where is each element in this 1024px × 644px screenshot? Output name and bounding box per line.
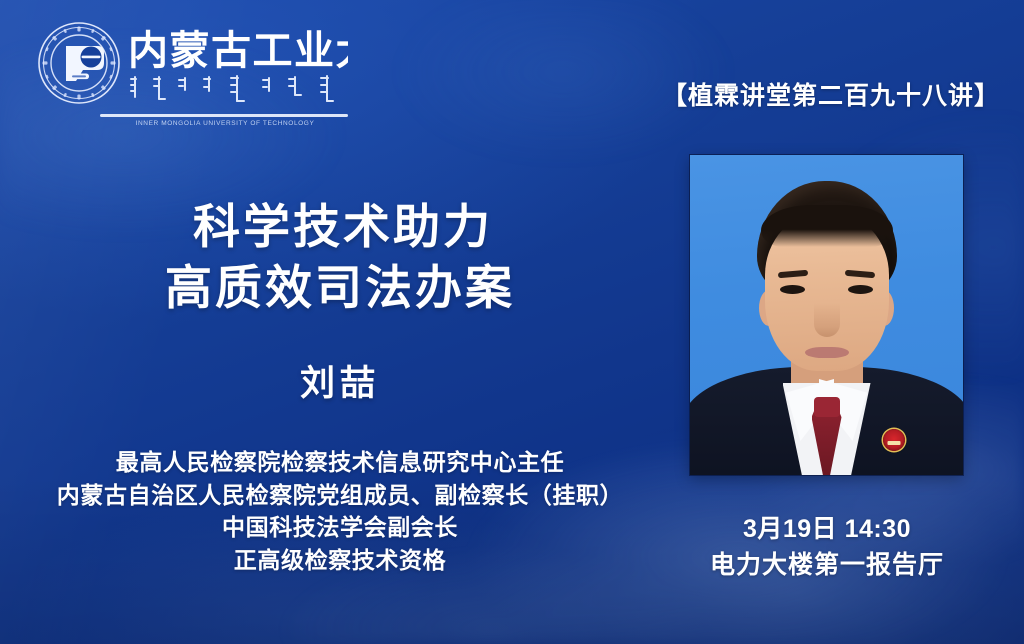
lecture-series-label: 【植霖讲堂第二百九十八讲】 [662, 76, 1000, 112]
university-seal-icon [36, 20, 122, 106]
title-line-2: 高质效司法办案 [20, 257, 660, 318]
poster-title: 科学技术助力 高质效司法办案 [20, 196, 660, 318]
credential-line: 正高级检察技术资格 [8, 544, 672, 577]
portrait-mouth [805, 347, 849, 358]
lecture-poster: 内蒙古工业大学 [0, 0, 1024, 644]
portrait-eye-left [780, 285, 805, 294]
speaker-portrait-photo [690, 155, 963, 475]
university-english-name: INNER MONGOLIA UNIVERSITY OF TECHNOLOGY [100, 120, 350, 127]
credential-line: 内蒙古自治区人民检察院党组成员、副检察长（挂职） [8, 479, 672, 512]
university-logo: 内蒙古工业大学 [32, 16, 348, 132]
portrait-nose [814, 303, 840, 337]
university-name-wordmark: 内蒙古工业大学 [128, 20, 348, 106]
portrait-eye-right [848, 285, 873, 294]
portrait-fringe [761, 205, 893, 247]
credential-line: 中国科技法学会副会长 [8, 511, 672, 544]
event-details: 3月19日 14:30 电力大楼第一报告厅 [672, 512, 982, 583]
event-venue: 电力大楼第一报告厅 [672, 548, 982, 584]
title-line-1: 科学技术助力 [20, 196, 660, 257]
speaker-credentials: 最高人民检察院检察技术信息研究中心主任 内蒙古自治区人民检察院党组成员、副检察长… [8, 446, 672, 577]
speaker-portrait-frame [690, 155, 963, 475]
credential-line: 最高人民检察院检察技术信息研究中心主任 [8, 446, 672, 479]
portrait-necktie-knot [814, 397, 840, 417]
speaker-name: 刘喆 [20, 355, 660, 406]
university-mongolian-name [130, 75, 334, 102]
logo-divider-rule [100, 114, 348, 117]
event-date: 3月19日 14:30 [672, 512, 982, 548]
university-chinese-name: 内蒙古工业大学 [128, 28, 348, 73]
procuratorate-emblem-badge-icon [883, 429, 905, 451]
